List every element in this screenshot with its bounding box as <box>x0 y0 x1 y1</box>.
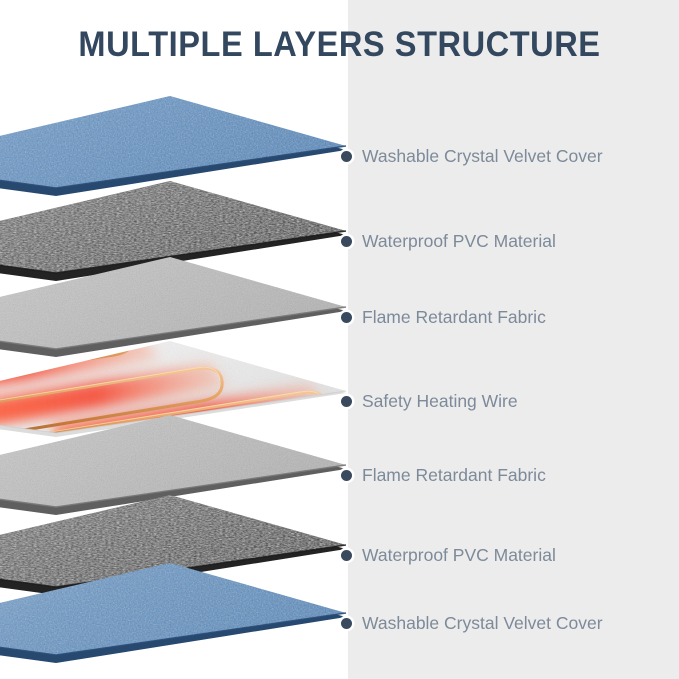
label-row-flame-retardant-fabric-lower[interactable]: Flame Retardant Fabric <box>341 465 546 485</box>
label-row-flame-retardant-fabric-upper[interactable]: Flame Retardant Fabric <box>341 307 546 327</box>
layer-label: Waterproof PVC Material <box>362 545 556 565</box>
bullet-dot-icon <box>341 236 352 247</box>
layer-label: Washable Crystal Velvet Cover <box>362 613 603 633</box>
page-title: MULTIPLE LAYERS STRUCTURE <box>24 26 655 64</box>
layer-label: Safety Heating Wire <box>362 391 518 411</box>
label-row-waterproof-pvc-material-bottom[interactable]: Waterproof PVC Material <box>341 545 556 565</box>
infographic-canvas: MULTIPLE LAYERS STRUCTURE <box>0 0 679 679</box>
label-row-washable-crystal-velvet-cover-bottom[interactable]: Washable Crystal Velvet Cover <box>341 613 603 633</box>
label-row-washable-crystal-velvet-cover-top[interactable]: Washable Crystal Velvet Cover <box>341 146 603 166</box>
label-row-waterproof-pvc-material-top[interactable]: Waterproof PVC Material <box>341 231 556 251</box>
layer-label: Washable Crystal Velvet Cover <box>362 146 603 166</box>
layer-label-list: Washable Crystal Velvet Cover Waterproof… <box>0 0 679 679</box>
layer-label: Flame Retardant Fabric <box>362 307 546 327</box>
bullet-dot-icon <box>341 151 352 162</box>
bullet-dot-icon <box>341 618 352 629</box>
label-row-safety-heating-wire[interactable]: Safety Heating Wire <box>341 391 518 411</box>
bullet-dot-icon <box>341 312 352 323</box>
bullet-dot-icon <box>341 550 352 561</box>
bullet-dot-icon <box>341 470 352 481</box>
layer-label: Flame Retardant Fabric <box>362 465 546 485</box>
bullet-dot-icon <box>341 396 352 407</box>
layer-label: Waterproof PVC Material <box>362 231 556 251</box>
